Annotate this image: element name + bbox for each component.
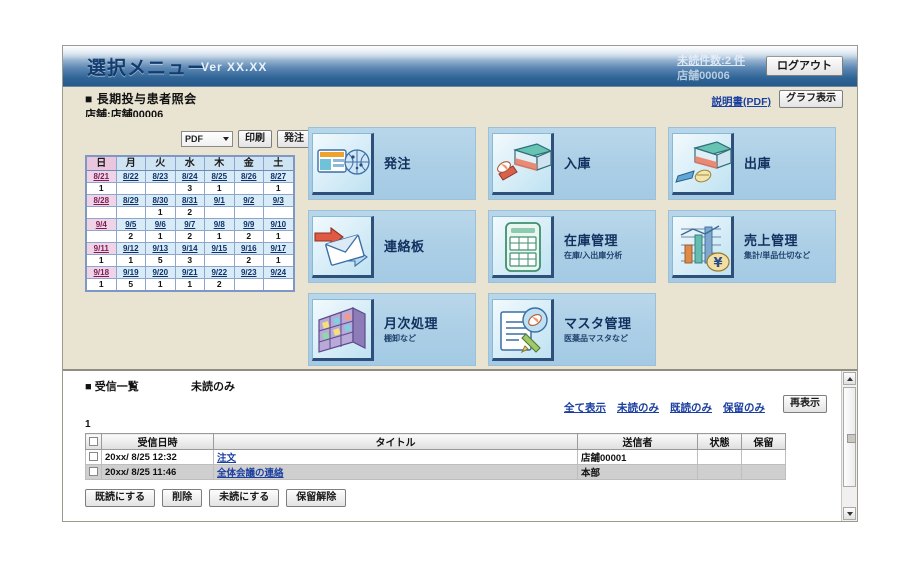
scroll-down-arrow-icon[interactable]	[843, 507, 856, 520]
action-button-1[interactable]: 削除	[162, 489, 202, 507]
row-select-cell[interactable]	[86, 450, 102, 465]
calendar-count-cell: 1	[264, 255, 294, 267]
cell-status	[698, 465, 742, 480]
calendar-count-cell: 1	[86, 279, 116, 292]
menu-tile-text: 在庫管理在庫/入出庫分析	[564, 233, 622, 261]
calendar-dow-2: 火	[146, 156, 176, 171]
output-format-value: PDF	[185, 134, 203, 144]
calendar-date-cell[interactable]: 8/27	[264, 171, 294, 183]
calendar-date-row: 9/119/129/139/149/159/169/17	[86, 243, 294, 255]
calendar-date-cell[interactable]: 8/28	[86, 195, 116, 207]
calendar-date-cell[interactable]: 9/7	[175, 219, 205, 231]
calendar-date-cell[interactable]: 8/25	[205, 171, 235, 183]
calendar-dow-4: 木	[205, 156, 235, 171]
column-header-5: 保留	[742, 434, 786, 450]
calendar-date-cell[interactable]: 8/21	[86, 171, 116, 183]
logout-button[interactable]: ログアウト	[766, 56, 843, 76]
calendar-count-cell	[146, 183, 176, 195]
calendar-date-cell[interactable]: 9/18	[86, 267, 116, 279]
row-checkbox[interactable]	[89, 452, 98, 461]
calendar-count-cell	[234, 183, 264, 195]
table-row[interactable]: 20xx/ 8/25 12:32注文店舗00001	[86, 450, 786, 465]
menu-tile-monthly[interactable]: 月次処理棚卸など	[308, 293, 476, 366]
column-header-1: 受信日時	[102, 434, 214, 450]
cell-datetime: 20xx/ 8/25 11:46	[102, 465, 214, 480]
message-title-link[interactable]: 注文	[217, 453, 236, 464]
calendar-count-row: 212121	[86, 231, 294, 243]
calendar-dow-0: 日	[86, 156, 116, 171]
calendar-count-cell: 1	[86, 183, 116, 195]
menu-tile-text: 月次処理棚卸など	[384, 316, 438, 344]
calendar-count-row: 15112	[86, 279, 294, 292]
calendar-dow-3: 水	[175, 156, 205, 171]
calendar-date-cell[interactable]: 9/21	[175, 267, 205, 279]
calendar-date-cell[interactable]: 9/20	[146, 267, 176, 279]
menu-tile-sublabel: 在庫/入出庫分析	[564, 250, 622, 261]
calendar-count-cell: 1	[175, 279, 205, 292]
message-board-icon	[312, 216, 374, 278]
lower-panel: ■ 受信一覧 未読のみ 全て表示未読のみ既読のみ保留のみ 再表示 1 受信日時タ…	[63, 369, 857, 521]
title-bar: 選択メニュー Ver XX.XX 未読件数:2 件 店舗00006 ログアウト	[63, 46, 857, 87]
calendar-count-cell: 1	[86, 255, 116, 267]
calendar-count-cell	[86, 231, 116, 243]
calendar-dow-row: 日月火水木金土	[86, 156, 294, 171]
scrollbar-grip-icon	[847, 434, 856, 443]
menu-tile-label: マスタ管理	[564, 316, 632, 331]
calendar-dow-1: 月	[116, 156, 146, 171]
unread-info: 未読件数:2 件 店舗00006	[677, 52, 745, 83]
row-checkbox[interactable]	[89, 467, 98, 476]
calendar-date-cell[interactable]: 8/30	[146, 195, 176, 207]
cell-title: 注文	[214, 450, 578, 465]
menu-tile-text: マスタ管理医薬品マスタなど	[564, 316, 632, 344]
menu-tile-grid: 発注 入庫 出庫 連絡板 在庫管理在庫/入出庫分析	[308, 127, 836, 366]
calendar-date-cell[interactable]: 9/10	[264, 219, 294, 231]
calendar-count-row: 12	[86, 207, 294, 219]
calendar-date-cell[interactable]: 9/17	[264, 243, 294, 255]
calendar-count-row: 1311	[86, 183, 294, 195]
calendar-date-cell[interactable]: 9/2	[234, 195, 264, 207]
upper-panel: PDF 印刷 発注 日月火水木金土8/218/228/238/248/258/2…	[63, 117, 857, 369]
calendar-date-cell[interactable]: 8/23	[146, 171, 176, 183]
calendar-date-cell[interactable]: 9/23	[234, 267, 264, 279]
received-current-filter: 未読のみ	[191, 378, 235, 394]
calendar-date-cell[interactable]: 9/19	[116, 267, 146, 279]
calendar-count-cell	[116, 207, 146, 219]
select-all-header[interactable]	[86, 434, 102, 450]
page-number: 1	[85, 419, 91, 430]
calendar-count-cell: 2	[234, 255, 264, 267]
calendar-date-cell[interactable]: 8/22	[116, 171, 146, 183]
calendar-count-cell: 1	[264, 183, 294, 195]
column-header-4: 状態	[698, 434, 742, 450]
menu-tile-text: 入庫	[564, 156, 591, 171]
order-button[interactable]: 発注	[277, 130, 311, 148]
calendar-count-cell: 1	[264, 231, 294, 243]
inbound-icon	[492, 133, 554, 195]
calendar-date-row: 9/49/59/69/79/89/99/10	[86, 219, 294, 231]
calendar-date-cell[interactable]: 9/14	[175, 243, 205, 255]
graph-display-button[interactable]: グラフ表示	[779, 90, 843, 108]
calendar-count-cell: 2	[116, 231, 146, 243]
calendar-count-cell: 5	[146, 255, 176, 267]
calendar-date-cell[interactable]: 9/16	[234, 243, 264, 255]
calendar-date-cell[interactable]: 9/1	[205, 195, 235, 207]
action-button-2[interactable]: 未読にする	[209, 489, 279, 507]
calendar-date-cell[interactable]: 9/15	[205, 243, 235, 255]
calendar-count-cell: 1	[205, 183, 235, 195]
menu-tile-label: 出庫	[744, 156, 771, 171]
refresh-button[interactable]: 再表示	[783, 395, 827, 413]
monthly-icon	[312, 299, 374, 361]
menu-tile-label: 発注	[384, 156, 411, 171]
menu-tile-sublabel: 棚卸など	[384, 333, 438, 344]
calendar-count-cell: 1	[116, 255, 146, 267]
version-label: Ver XX.XX	[201, 60, 267, 74]
calendar-count-row: 115321	[86, 255, 294, 267]
calendar-date-cell[interactable]: 8/26	[234, 171, 264, 183]
output-format-select[interactable]: PDF	[181, 131, 233, 147]
master-icon	[492, 299, 554, 361]
action-button-0[interactable]: 既読にする	[85, 489, 155, 507]
calendar-count-cell	[116, 183, 146, 195]
calendar-dow-6: 土	[264, 156, 294, 171]
calendar-date-cell[interactable]: 9/6	[146, 219, 176, 231]
calendar-date-cell[interactable]: 8/24	[175, 171, 205, 183]
calendar-date-cell[interactable]: 9/11	[86, 243, 116, 255]
row-select-cell[interactable]	[86, 465, 102, 480]
inventory-icon	[492, 216, 554, 278]
calendar-count-cell	[264, 207, 294, 219]
cell-sender: 店舗00001	[578, 450, 698, 465]
column-header-2: タイトル	[214, 434, 578, 450]
calendar-count-cell: 1	[146, 279, 176, 292]
menu-tile-text: 連絡板	[384, 239, 425, 254]
cell-hold	[742, 450, 786, 465]
menu-tile-sublabel: 医薬品マスタなど	[564, 333, 632, 344]
menu-tile-order[interactable]: 発注	[308, 127, 476, 200]
calendar-date-cell[interactable]: 9/22	[205, 267, 235, 279]
calendar[interactable]: 日月火水木金土8/218/228/238/248/258/268/2713118…	[85, 155, 295, 292]
calendar-date-cell[interactable]: 9/24	[264, 267, 294, 279]
menu-tile-label: 入庫	[564, 156, 591, 171]
calendar-count-cell: 1	[146, 231, 176, 243]
calendar-count-cell	[86, 207, 116, 219]
received-list-title: ■ 受信一覧	[85, 378, 139, 394]
sub-header: ■ 長期投与患者照会 店舗:店舗00006 説明書(PDF) グラフ表示	[63, 87, 857, 117]
calendar-date-row: 8/218/228/238/248/258/268/27	[86, 171, 294, 183]
filter-links: 全て表示未読のみ既読のみ保留のみ	[564, 400, 765, 415]
calendar-count-cell: 3	[175, 183, 205, 195]
calendar-date-row: 8/288/298/308/319/19/29/3	[86, 195, 294, 207]
calendar-count-cell: 1	[146, 207, 176, 219]
calendar-date-cell[interactable]: 9/13	[146, 243, 176, 255]
print-button[interactable]: 印刷	[238, 130, 272, 148]
calendar-count-cell	[205, 207, 235, 219]
scroll-up-arrow-icon[interactable]	[843, 372, 856, 385]
sales-icon: ¥	[672, 216, 734, 278]
menu-tile-sublabel: 集計/単品仕切など	[744, 250, 810, 261]
manual-pdf-link[interactable]: 説明書(PDF)	[712, 94, 772, 109]
menu-tile-master[interactable]: マスタ管理医薬品マスタなど	[488, 293, 656, 366]
select-all-checkbox[interactable]	[89, 437, 98, 446]
order-icon	[312, 133, 374, 195]
filter-link-0[interactable]: 全て表示	[564, 400, 606, 415]
calendar-date-row: 9/189/199/209/219/229/239/24	[86, 267, 294, 279]
calendar-count-cell	[264, 279, 294, 292]
received-messages-table: 受信日時タイトル送信者状態保留 20xx/ 8/25 12:32注文店舗0000…	[85, 433, 786, 480]
store-code-label: 店舗00006	[677, 67, 745, 83]
menu-tile-inbound[interactable]: 入庫	[488, 127, 656, 200]
filter-link-1[interactable]: 未読のみ	[617, 400, 659, 415]
calendar-count-cell	[205, 255, 235, 267]
calendar-count-cell: 1	[205, 231, 235, 243]
chevron-down-icon	[223, 137, 229, 141]
unread-count-label: 未読件数:2 件	[677, 52, 745, 68]
calendar-count-cell: 2	[175, 207, 205, 219]
menu-tile-text: 売上管理集計/単品仕切など	[744, 233, 810, 261]
cell-sender: 本部	[578, 465, 698, 480]
vertical-scrollbar[interactable]	[841, 371, 857, 521]
calendar-date-cell[interactable]: 9/12	[116, 243, 146, 255]
filter-link-2[interactable]: 既読のみ	[670, 400, 712, 415]
calendar-count-cell: 2	[205, 279, 235, 292]
page-title: 選択メニュー	[87, 53, 207, 80]
message-title-link[interactable]: 全体会議の連絡	[217, 468, 284, 479]
filter-link-3[interactable]: 保留のみ	[723, 400, 765, 415]
received-list-area: ■ 受信一覧 未読のみ 全て表示未読のみ既読のみ保留のみ 再表示 1 受信日時タ…	[63, 371, 841, 521]
calendar-dow-5: 金	[234, 156, 264, 171]
calendar-count-cell: 5	[116, 279, 146, 292]
calendar-count-cell	[234, 207, 264, 219]
cell-status	[698, 450, 742, 465]
menu-tile-label: 売上管理	[744, 233, 810, 248]
calendar-date-cell[interactable]: 9/4	[86, 219, 116, 231]
calendar-date-cell[interactable]: 9/5	[116, 219, 146, 231]
calendar-count-cell: 3	[175, 255, 205, 267]
calendar-date-cell[interactable]: 9/8	[205, 219, 235, 231]
action-button-3[interactable]: 保留解除	[286, 489, 346, 507]
menu-tile-label: 連絡板	[384, 239, 425, 254]
calendar-date-cell[interactable]: 8/29	[116, 195, 146, 207]
column-header-3: 送信者	[578, 434, 698, 450]
section-title: ■ 長期投与患者照会	[85, 90, 197, 107]
row-action-buttons: 既読にする削除未読にする保留解除	[85, 489, 346, 507]
calendar-date-cell[interactable]: 8/31	[175, 195, 205, 207]
calendar-date-cell[interactable]: 9/9	[234, 219, 264, 231]
menu-tile-text: 発注	[384, 156, 411, 171]
menu-tile-label: 月次処理	[384, 316, 438, 331]
outbound-icon	[672, 133, 734, 195]
calendar-count-cell	[234, 279, 264, 292]
menu-tile-outbound[interactable]: 出庫	[668, 127, 836, 200]
cell-datetime: 20xx/ 8/25 12:32	[102, 450, 214, 465]
table-row[interactable]: 20xx/ 8/25 11:46全体会議の連絡本部	[86, 465, 786, 480]
menu-tile-sales[interactable]: ¥ 売上管理集計/単品仕切など	[668, 210, 836, 283]
menu-tile-message-board[interactable]: 連絡板	[308, 210, 476, 283]
calendar-count-cell: 2	[175, 231, 205, 243]
calendar-date-cell[interactable]: 9/3	[264, 195, 294, 207]
cell-title: 全体会議の連絡	[214, 465, 578, 480]
svg-text:¥: ¥	[713, 256, 722, 271]
menu-tile-text: 出庫	[744, 156, 771, 171]
cell-hold	[742, 465, 786, 480]
calendar-count-cell: 2	[234, 231, 264, 243]
table-header-row: 受信日時タイトル送信者状態保留	[86, 434, 786, 450]
menu-tile-label: 在庫管理	[564, 233, 622, 248]
print-controls: PDF 印刷 発注	[181, 130, 311, 148]
application-window: 選択メニュー Ver XX.XX 未読件数:2 件 店舗00006 ログアウト …	[62, 45, 858, 522]
menu-tile-inventory[interactable]: 在庫管理在庫/入出庫分析	[488, 210, 656, 283]
scrollbar-thumb[interactable]	[843, 387, 856, 487]
